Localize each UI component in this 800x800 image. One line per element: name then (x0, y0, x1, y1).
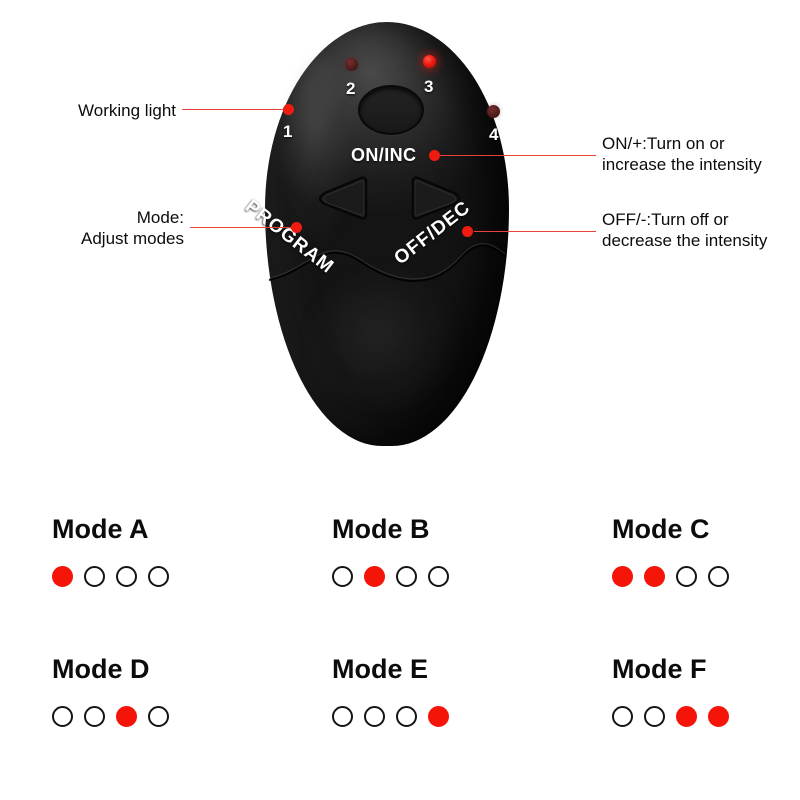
led-number-4: 4 (489, 126, 498, 143)
mode-dot (116, 566, 137, 587)
mode-title-e: Mode E (332, 656, 598, 683)
mode-title-d: Mode D (52, 656, 318, 683)
callout-dot-off-minus (462, 226, 473, 237)
mode-dot (84, 706, 105, 727)
callout-label-on-plus: ON/+:Turn on or increase the intensity (602, 133, 800, 175)
label-on-inc: ON/INC (351, 145, 416, 166)
mode-cell-f: Mode F (612, 656, 800, 727)
device-diagram: 2 3 4 1 ON/INC PROGRAM OFF/DEC Working l… (0, 0, 800, 490)
mode-dot (612, 566, 633, 587)
mode-dot (612, 706, 633, 727)
mode-title-c: Mode C (612, 516, 800, 543)
led-indicator-3 (423, 55, 436, 68)
mode-dot (708, 566, 729, 587)
mode-dot (84, 566, 105, 587)
center-oval-recess (358, 85, 424, 135)
callout-label-working-light: Working light (0, 100, 176, 121)
callout-line-on-plus (436, 155, 596, 156)
mode-cell-e: Mode E (332, 656, 598, 727)
mode-dot (396, 566, 417, 587)
mode-dot (332, 566, 353, 587)
mode-dot (676, 566, 697, 587)
led-number-3: 3 (424, 78, 433, 95)
mode-dot (52, 566, 73, 587)
device-highlight-lower (309, 268, 460, 412)
mode-dots-b (332, 566, 598, 587)
on-inc-triangle-button[interactable] (410, 172, 468, 224)
mode-dot (644, 566, 665, 587)
callout-line-off-minus (474, 231, 596, 232)
mode-dot (148, 566, 169, 587)
callout-dot-mode (291, 222, 302, 233)
callout-dot-on-plus (429, 150, 440, 161)
mode-dot (428, 566, 449, 587)
callout-dot-working-light (283, 104, 294, 115)
mode-dot (148, 706, 169, 727)
mode-dot (708, 706, 729, 727)
mode-title-a: Mode A (52, 516, 318, 543)
callout-line-working-light (182, 109, 290, 110)
mode-dot (676, 706, 697, 727)
led-number-1: 1 (283, 123, 292, 140)
led-number-2: 2 (346, 80, 355, 97)
mode-title-f: Mode F (612, 656, 800, 683)
mode-cell-a: Mode A (52, 516, 318, 587)
led-indicator-2 (345, 58, 358, 71)
mode-title-b: Mode B (332, 516, 598, 543)
mode-cell-b: Mode B (332, 516, 598, 587)
mode-cell-d: Mode D (52, 656, 318, 727)
mode-cell-c: Mode C (612, 516, 800, 587)
mode-dot (396, 706, 417, 727)
mode-dot (644, 706, 665, 727)
callout-label-mode: Mode: Adjust modes (0, 207, 184, 249)
mode-dots-f (612, 706, 800, 727)
mode-dots-d (52, 706, 318, 727)
callout-line-mode (190, 227, 298, 228)
mode-dots-a (52, 566, 318, 587)
mode-dot (364, 706, 385, 727)
mode-dot (332, 706, 353, 727)
mode-dot (116, 706, 137, 727)
mode-dot (428, 706, 449, 727)
mode-dots-e (332, 706, 598, 727)
program-triangle-button[interactable] (311, 172, 369, 224)
mode-legend-grid: Mode A Mode B Mode C Mode D (0, 498, 800, 800)
mode-dots-c (612, 566, 800, 587)
mode-dot (364, 566, 385, 587)
callout-label-off-minus: OFF/-:Turn off or decrease the intensity (602, 209, 800, 251)
mode-dot (52, 706, 73, 727)
led-indicator-4 (487, 105, 500, 118)
